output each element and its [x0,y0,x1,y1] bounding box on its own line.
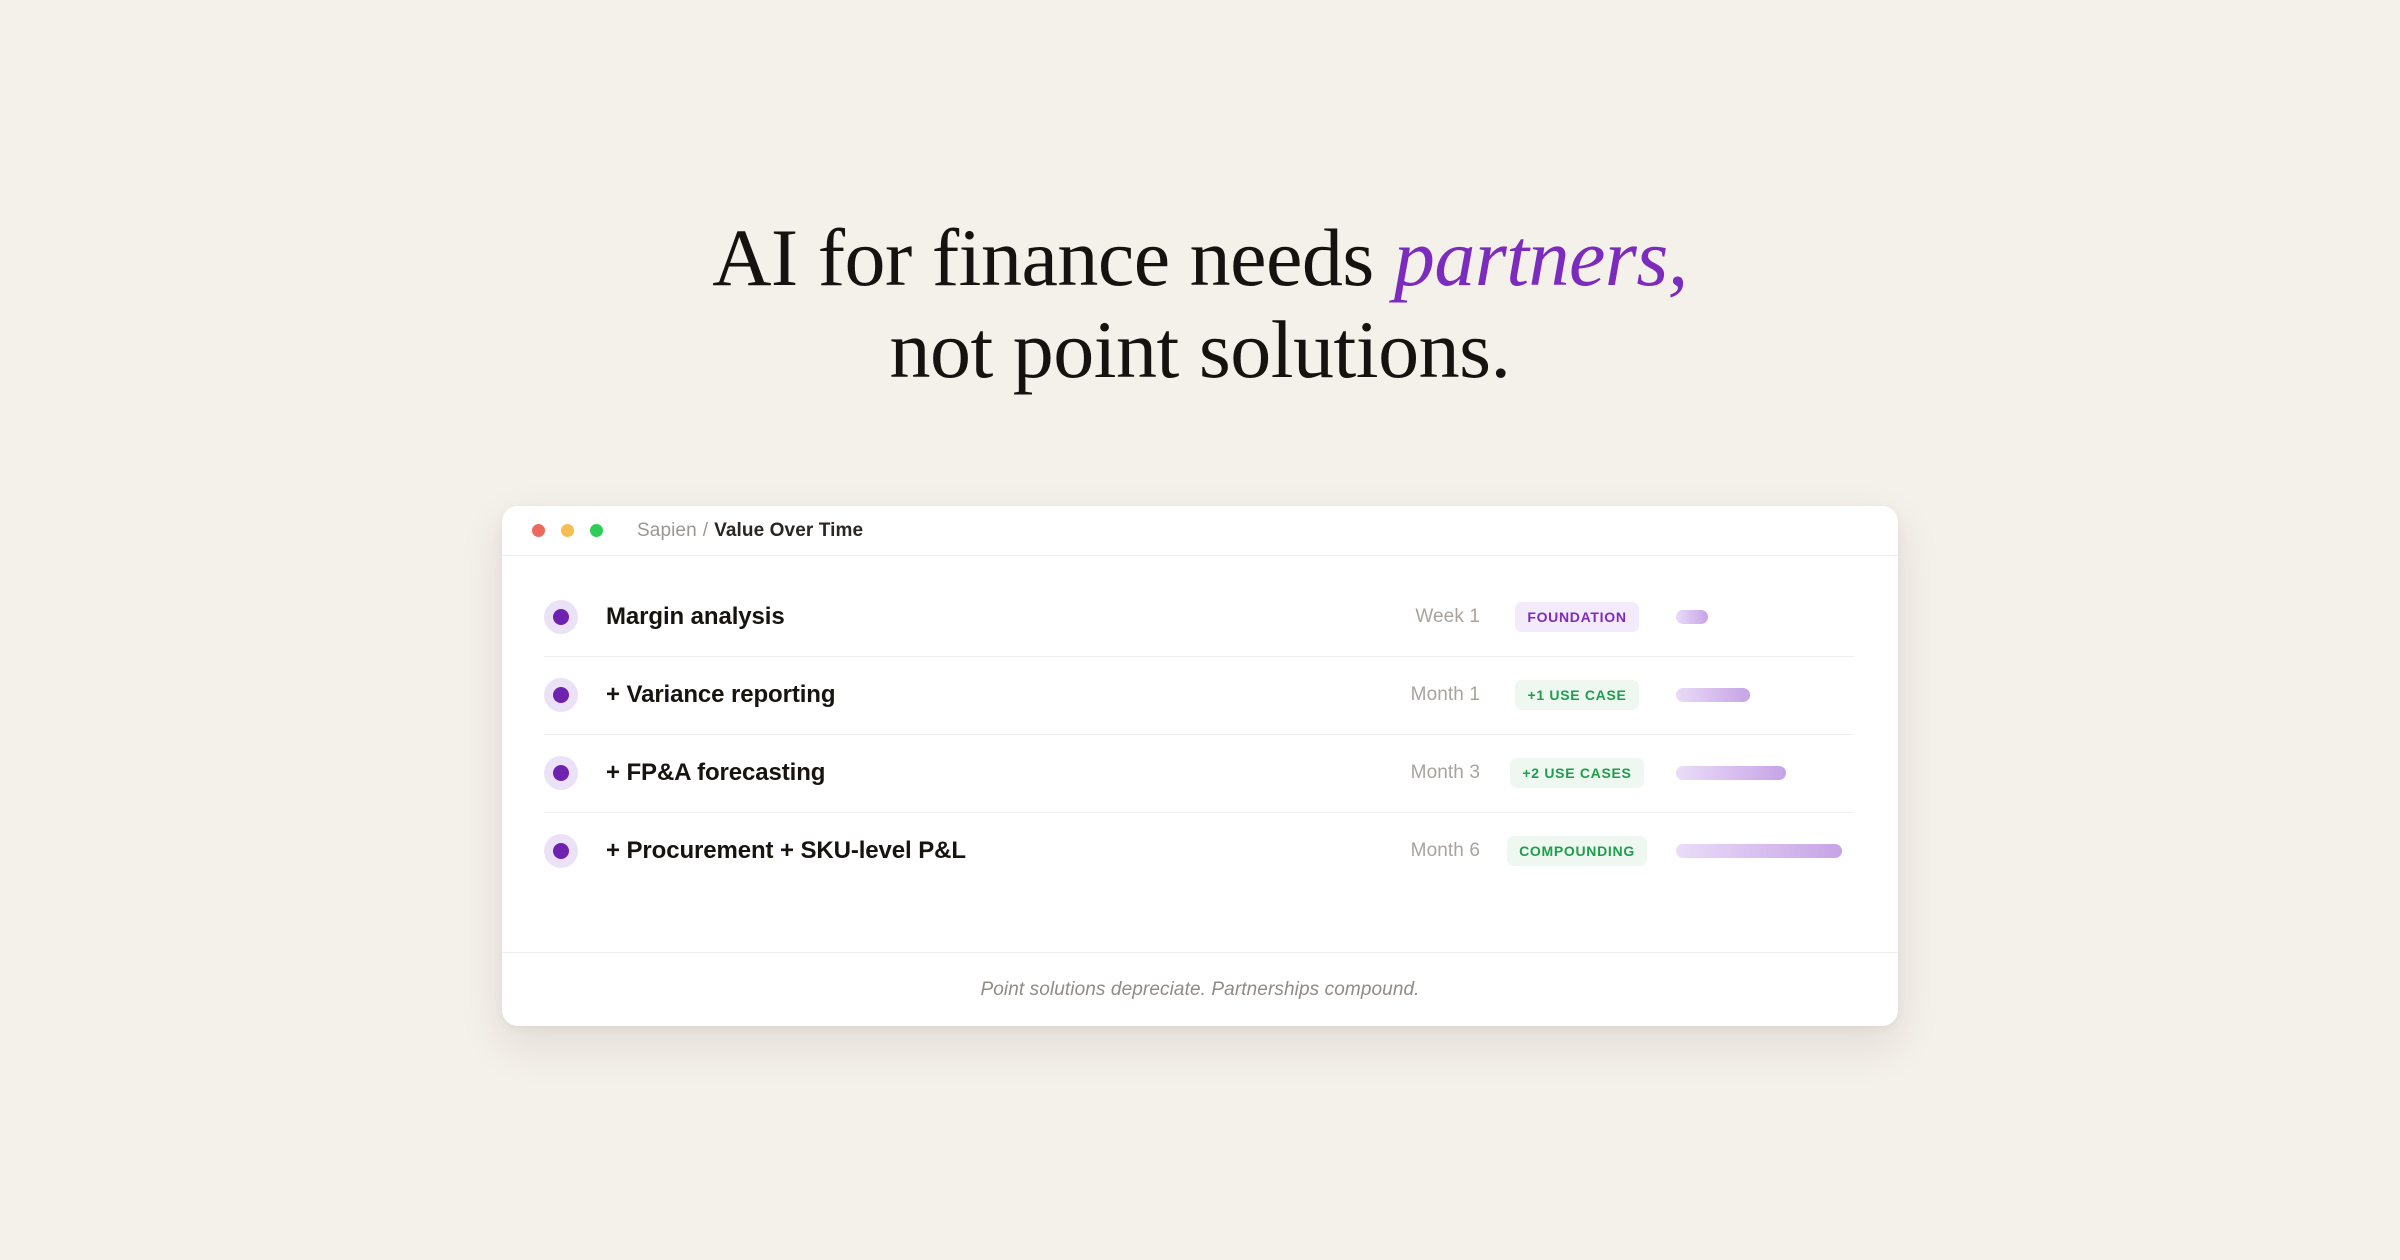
row-badge-cell: +1 USE CASE [1502,680,1652,710]
status-badge: +2 USE CASES [1510,758,1643,788]
close-icon[interactable] [532,524,545,537]
page-title: AI for finance needs partners, not point… [0,212,2400,396]
breadcrumb: Sapien / Value Over Time [637,520,863,542]
status-badge: +1 USE CASE [1515,680,1638,710]
card-footer: Point solutions depreciate. Partnerships… [502,952,1898,1026]
row-label: + Variance reporting [606,681,1360,709]
progress-bar [1676,610,1708,624]
table-row[interactable]: + Procurement + SKU-level P&L Month 6 CO… [502,812,1898,890]
row-badge-cell: FOUNDATION [1502,602,1652,632]
status-badge: COMPOUNDING [1507,836,1647,866]
progress-bar [1676,766,1786,780]
page-root: AI for finance needs partners, not point… [0,0,2400,1260]
milestone-dot-icon [544,834,578,868]
headline-line-2-text: not point solutions. [0,304,2400,396]
minimize-icon[interactable] [561,524,574,537]
maximize-icon[interactable] [590,524,603,537]
window-titlebar: Sapien / Value Over Time [502,506,1898,556]
milestone-dot-icon [544,600,578,634]
row-label: + FP&A forecasting [606,759,1360,787]
row-timestamp: Week 1 [1360,606,1480,628]
row-badge-cell: +2 USE CASES [1502,758,1652,788]
row-progress-cell [1676,688,1854,702]
milestone-dot-icon [544,756,578,790]
row-label: + Procurement + SKU-level P&L [606,837,1360,865]
row-badge-cell: COMPOUNDING [1502,836,1652,866]
row-timestamp: Month 3 [1360,762,1480,784]
progress-bar [1676,844,1842,858]
table-row[interactable]: + Variance reporting Month 1 +1 USE CASE [502,656,1898,734]
row-timestamp: Month 6 [1360,840,1480,862]
footer-caption: Point solutions depreciate. Partnerships… [980,979,1419,1001]
row-timestamp: Month 1 [1360,684,1480,706]
milestone-dot-icon [544,678,578,712]
row-progress-cell [1676,610,1854,624]
browser-window-card: Sapien / Value Over Time Margin analysis… [502,506,1898,1026]
headline-accent-word: partners, [1394,212,1688,303]
table-row[interactable]: Margin analysis Week 1 FOUNDATION [502,578,1898,656]
breadcrumb-separator: / [697,520,714,542]
row-progress-cell [1676,844,1854,858]
breadcrumb-app-name[interactable]: Sapien [637,520,697,542]
row-label: Margin analysis [606,603,1360,631]
breadcrumb-current-view: Value Over Time [714,520,863,542]
table-row[interactable]: + FP&A forecasting Month 3 +2 USE CASES [502,734,1898,812]
timeline-rows-list: Margin analysis Week 1 FOUNDATION + Vari… [502,556,1898,910]
status-badge: FOUNDATION [1515,602,1638,632]
progress-bar [1676,688,1750,702]
traffic-lights-group [532,524,603,537]
headline-line-1-text: AI for finance needs [712,212,1394,303]
row-progress-cell [1676,766,1854,780]
